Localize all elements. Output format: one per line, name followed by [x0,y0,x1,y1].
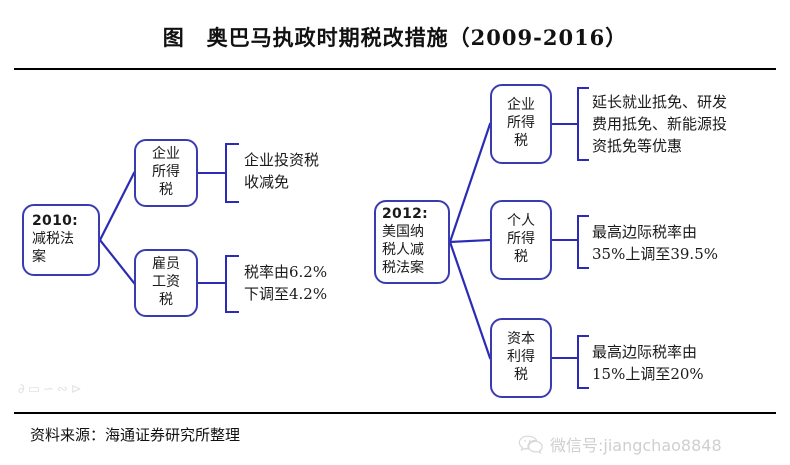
desc-line: 最高边际税率由 [592,222,718,244]
desc-line: 费用抵免、新能源投 [592,114,727,136]
node-line: 税人减 [382,242,424,260]
node-line: 雇员 [152,256,180,274]
link-2012-to-individual [450,240,490,242]
watermark-wechat-badge: 微信号:jiangchao8848 [518,432,722,456]
desc-line: 收减免 [244,172,319,194]
node-line: 2010: [32,213,78,231]
node-line: 企业 [152,146,180,164]
node-root-2010[interactable]: 2010: 减税法 案 [22,204,100,276]
divider-bottom [14,412,776,414]
desc-line: 企业投资税 [244,150,319,172]
node-corporate-income-tax-2010[interactable]: 企业 所得 税 [134,139,198,207]
source-note: 资料来源：海通证券研究所整理 [30,424,240,445]
node-corporate-income-tax-2012[interactable]: 企业 所得 税 [490,84,552,164]
node-line: 税 [514,249,528,267]
node-line: 利得 [507,349,535,367]
desc-corporate-income-tax-2010: 企业投资税 收减免 [244,150,319,194]
wechat-icon [518,434,544,454]
watermark-left: ∂▭∽∾⊳ [18,382,85,397]
node-employee-payroll-tax-2010[interactable]: 雇员 工资 税 [134,249,198,317]
node-line: 案 [32,249,46,267]
desc-line: 下调至4.2% [244,284,327,306]
node-line: 税 [159,292,173,310]
node-line: 税 [514,367,528,385]
desc-line: 资抵免等优惠 [592,136,727,158]
node-line: 所得 [507,231,535,249]
desc-line: 最高边际税率由 [592,342,704,364]
node-line: 税 [159,182,173,200]
node-individual-income-tax-2012[interactable]: 个人 所得 税 [490,200,552,280]
node-line: 工资 [152,274,180,292]
desc-line: 延长就业抵免、研发 [592,92,727,114]
desc-individual-income-tax-2012: 最高边际税率由 35%上调至39.5% [592,222,718,266]
desc-corporate-income-tax-2012: 延长就业抵免、研发 费用抵免、新能源投 资抵免等优惠 [592,92,727,157]
node-line: 2012: [382,206,428,224]
bracket-l-pay [226,256,238,312]
bracket-r-ind [578,216,588,268]
node-line: 税法案 [382,260,424,278]
desc-employee-payroll-tax-2010: 税率由6.2% 下调至4.2% [244,262,327,306]
page-title: 图 奥巴马执政时期税改措施（2009-2016） [0,22,790,52]
link-2010-to-payroll [100,240,134,283]
node-capital-gains-tax-2012[interactable]: 资本 利得 税 [490,318,552,398]
desc-line: 35%上调至39.5% [592,244,718,266]
node-line: 美国纳 [382,224,424,242]
node-line: 所得 [507,115,535,133]
figure-page: 图 奥巴马执政时期税改措施（2009-2016） [0,0,790,465]
desc-line: 15%上调至20% [592,364,704,386]
watermark-text: 微信号:jiangchao8848 [550,432,722,456]
desc-line: 税率由6.2% [244,262,327,284]
link-2012-to-corporate [450,124,490,242]
node-line: 资本 [507,331,535,349]
node-line: 个人 [507,213,535,231]
node-line: 税 [514,133,528,151]
node-root-2012[interactable]: 2012: 美国纳 税人减 税法案 [374,200,450,284]
bracket-l-corp [226,144,238,202]
link-2010-to-corporate [100,173,134,240]
link-2012-to-capital [450,242,490,358]
node-line: 减税法 [32,231,74,249]
bracket-r-cap [578,336,588,388]
bracket-r-corp [578,88,588,160]
divider-top [14,68,776,70]
desc-capital-gains-tax-2012: 最高边际税率由 15%上调至20% [592,342,704,386]
node-line: 所得 [152,164,180,182]
node-line: 企业 [507,97,535,115]
